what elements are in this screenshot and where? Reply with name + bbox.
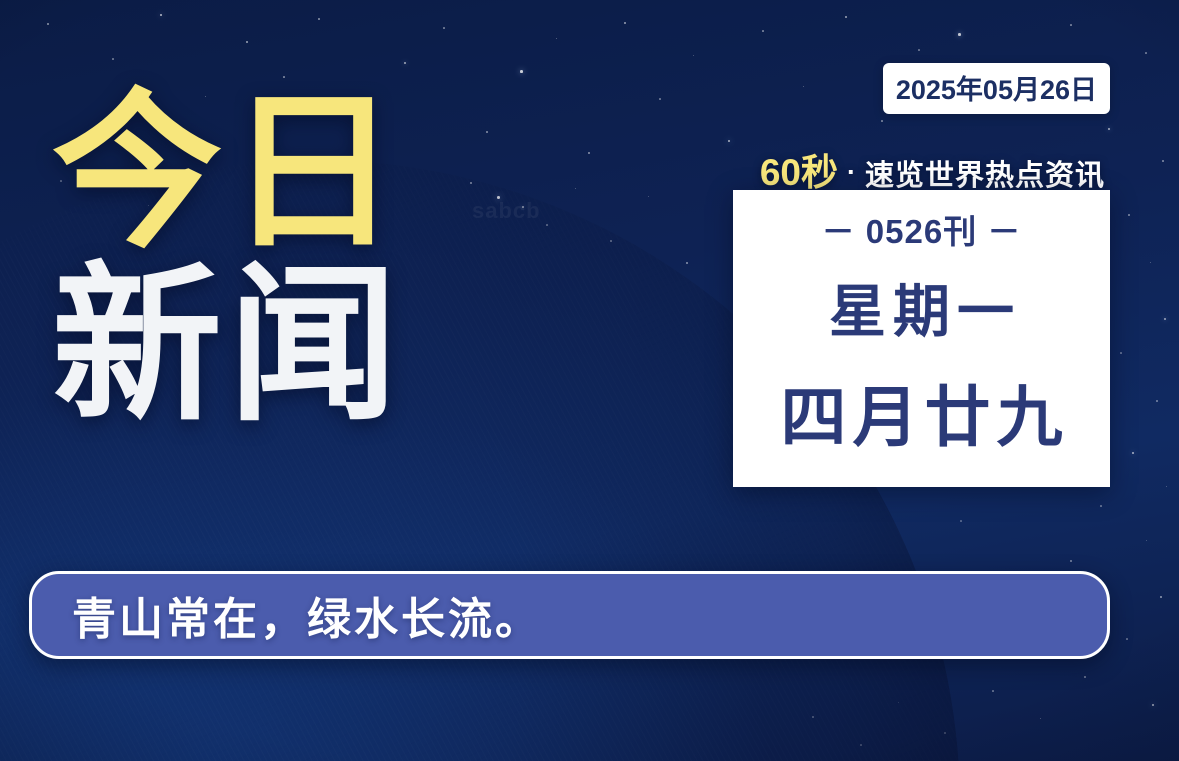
- weekday-label: 星期一: [822, 266, 1021, 348]
- tagline-highlight: 60秒: [760, 142, 838, 196]
- date-badge: 2025年05月26日: [883, 63, 1110, 114]
- news-poster: sabcb 今日 新闻 2025年05月26日 60秒 · 速览世界热点资讯 －…: [0, 0, 1179, 761]
- tagline-separator-dot: ·: [847, 157, 856, 188]
- page-title-line-2: 新闻: [52, 265, 404, 428]
- quote-bar: 青山常在，绿水长流。: [29, 571, 1110, 659]
- tagline: 60秒 · 速览世界热点资讯: [760, 142, 1105, 196]
- quote-text: 青山常在，绿水长流。: [72, 583, 542, 647]
- date-info-card: － 0526刊 － 星期一 四月廿九: [733, 190, 1110, 487]
- issue-number: － 0526刊 －: [822, 205, 1022, 253]
- page-title: 今日 新闻: [52, 92, 404, 428]
- tagline-text: 速览世界热点资讯: [865, 152, 1105, 194]
- lunar-date-label: 四月廿九: [775, 364, 1069, 460]
- page-title-line-1: 今日: [52, 92, 404, 255]
